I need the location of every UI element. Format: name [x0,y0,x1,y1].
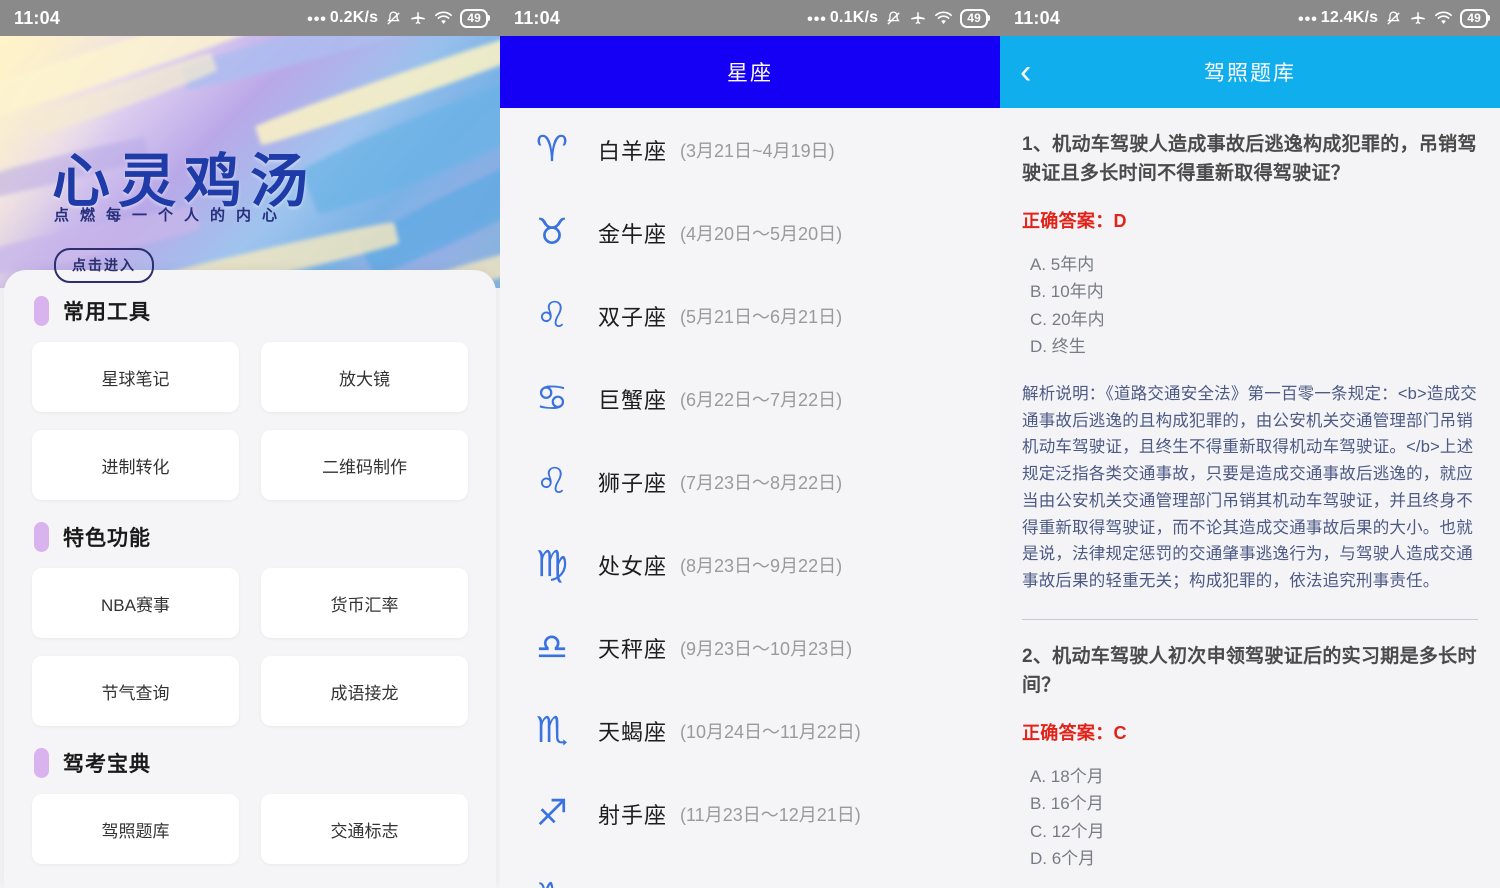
three-panel-screenshot: 11:04 ••• 0.2K/s 49 [0,0,1500,888]
airplane-icon [1409,9,1427,27]
status-bar-2: 11:04 ••• 0.1K/s 49 [500,0,1000,36]
option-item[interactable]: B. 16个月 [1030,790,1478,818]
panel-driving-quiz: 11:04 ••• 12.4K/s 49 ‹ 驾照题库 [1000,0,1500,888]
taurus-icon: ♉ [528,215,576,251]
zodiac-name: 白羊座 [598,134,667,166]
section-header-common-tools: 常用工具 [34,296,468,326]
option-item[interactable]: C. 20年内 [1030,306,1478,334]
zodiac-toolbar: 星座 [500,36,1000,108]
section-bullet-icon [34,296,49,326]
zodiac-date: (7月23日～8月22日) [680,469,842,495]
page-title: 星座 [727,57,773,87]
option-item[interactable]: C. 12个月 [1030,818,1478,846]
option-list: A. 18个月 B. 16个月 C. 12个月 D. 6个月 [1022,763,1478,873]
question-text: 1、机动车驾驶人造成事故后逃逸构成犯罪的，吊销驾驶证且多长时间不得重新取得驾驶证… [1022,130,1478,189]
enter-button[interactable]: 点击进入 [54,248,154,283]
zodiac-name: 射手座 [598,798,667,830]
scorpio-icon: ♏ [528,713,576,749]
banner-subtitle: 点燃每一个人的内心 [54,204,288,225]
correct-answer: 正确答案：C [1022,719,1478,745]
zodiac-name: 处女座 [598,549,667,581]
airplane-icon [909,9,927,27]
tool-card[interactable]: 节气查询 [32,656,239,726]
battery-indicator: 49 [1460,9,1488,28]
virgo-icon: ♍ [528,547,576,583]
zodiac-date: (4月20日～5月20日) [680,220,842,246]
list-item[interactable]: ♐ 射手座 (11月23日～12月21日) [500,772,1000,855]
list-item[interactable]: ♉ 金牛座 (4月20日～5月20日) [500,191,1000,274]
libra-icon: ♎ [528,630,576,666]
tool-card[interactable]: 驾照题库 [32,794,239,864]
airplane-icon [409,9,427,27]
cancer-icon: ♋ [528,381,576,417]
hero-banner[interactable]: 心灵鸡汤 点燃每一个人的内心 点击进入 [0,36,500,288]
panel-home-tools: 11:04 ••• 0.2K/s 49 [0,0,500,888]
zodiac-date: (11月23日～12月21日) [680,801,861,827]
tool-card[interactable]: 货币汇率 [261,568,468,638]
status-time: 11:04 [1014,8,1060,29]
status-bar-1: 11:04 ••• 0.2K/s 49 [0,0,500,36]
list-item[interactable]: ♈ 白羊座 (3月21日~4月19日) [500,108,1000,191]
correct-answer: 正确答案：D [1022,207,1478,233]
zodiac-date: (10月24日～11月22日) [680,718,861,744]
network-speed: 0.2K/s [330,9,378,27]
battery-indicator: 49 [960,9,988,28]
zodiac-name: 狮子座 [598,466,667,498]
sagittarius-icon: ♐ [528,796,576,832]
chevron-left-icon[interactable]: ‹ [1020,55,1056,89]
bell-muted-icon [385,10,402,27]
quiz-toolbar: ‹ 驾照题库 [1000,36,1500,108]
page-title: 驾照题库 [1000,57,1500,87]
zodiac-name: 天蝎座 [598,715,667,747]
tool-card[interactable]: 星球笔记 [32,342,239,412]
question-text: 2、机动车驾驶人初次申领驾驶证后的实习期是多长时间？ [1022,642,1478,701]
status-time: 11:04 [14,8,60,29]
section-header-driving: 驾考宝典 [34,748,468,778]
section-header-features: 特色功能 [34,522,468,552]
option-item[interactable]: D. 6个月 [1030,845,1478,873]
section-title: 常用工具 [63,296,151,326]
aries-icon: ♈ [528,132,576,168]
status-bar-3: 11:04 ••• 12.4K/s 49 [1000,0,1500,36]
option-item[interactable]: A. 5年内 [1030,251,1478,279]
wifi-icon [934,10,953,26]
zodiac-name: 双子座 [598,300,667,332]
network-dots-icon: ••• [807,11,827,29]
network-speed: 0.1K/s [830,9,878,27]
question-list[interactable]: 1、机动车驾驶人造成事故后逃逸构成犯罪的，吊销驾驶证且多长时间不得重新取得驾驶证… [1000,108,1500,888]
panel-zodiac-list: 11:04 ••• 0.1K/s 49 星座 ♈ [500,0,1000,888]
option-list: A. 5年内 B. 10年内 C. 20年内 D. 终生 [1022,251,1478,361]
zodiac-name: 巨蟹座 [598,383,667,415]
tool-grid-common: 星球笔记 放大镜 进制转化 二维码制作 [32,342,468,500]
list-item[interactable]: ♋ 巨蟹座 (6月22日～7月22日) [500,357,1000,440]
wifi-icon [434,10,453,26]
tool-card[interactable]: 进制转化 [32,430,239,500]
leo-icon: ♌ [528,298,576,334]
tool-card[interactable]: 成语接龙 [261,656,468,726]
section-bullet-icon [34,748,49,778]
zodiac-date: (8月23日～9月22日) [680,552,842,578]
question-block: 2、机动车驾驶人初次申领驾驶证后的实习期是多长时间？ 正确答案：C A. 18个… [1022,620,1478,888]
list-item[interactable]: ♎ 天秤座 (9月23日～10月23日) [500,606,1000,689]
list-item[interactable]: ♌ 狮子座 (7月23日～8月22日) [500,440,1000,523]
zodiac-date: (5月21日～6月21日) [680,303,842,329]
bell-muted-icon [885,10,902,27]
bell-muted-icon [1385,10,1402,27]
zodiac-name: 金牛座 [598,217,667,249]
explanation-text: 解析说明：《道路交通安全法》第一百零一条规定：<b>造成交通事故后逃逸的且构成犯… [1022,381,1478,595]
tool-card[interactable]: 二维码制作 [261,430,468,500]
tool-grid-driving: 驾照题库 交通标志 [32,794,468,864]
tool-card[interactable]: 交通标志 [261,794,468,864]
zodiac-list[interactable]: ♈ 白羊座 (3月21日~4月19日) ♉ 金牛座 (4月20日～5月20日) … [500,108,1000,888]
tools-sheet: 常用工具 星球笔记 放大镜 进制转化 二维码制作 特色功能 NBA赛事 货币汇率… [4,270,496,888]
question-block: 1、机动车驾驶人造成事故后逃逸构成犯罪的，吊销驾驶证且多长时间不得重新取得驾驶证… [1022,108,1478,620]
option-item[interactable]: B. 10年内 [1030,278,1478,306]
section-title: 驾考宝典 [63,748,151,778]
list-item[interactable]: ♍ 处女座 (8月23日～9月22日) [500,523,1000,606]
zodiac-date: (6月22日～7月22日) [680,386,842,412]
list-item[interactable]: ♌ 双子座 (5月21日～6月21日) [500,274,1000,357]
section-bullet-icon [34,522,49,552]
battery-indicator: 49 [460,9,488,28]
zodiac-date: (9月23日～10月23日) [680,635,852,661]
network-dots-icon: ••• [1298,11,1318,29]
capricorn-icon: ♑ [528,879,576,888]
list-item[interactable]: ♑ [500,855,1000,888]
leo-icon: ♌ [528,464,576,500]
zodiac-name: 天秤座 [598,632,667,664]
option-item[interactable]: A. 18个月 [1030,763,1478,791]
network-dots-icon: ••• [307,11,327,29]
option-item[interactable]: D. 终生 [1030,333,1478,361]
wifi-icon [1434,10,1453,26]
tool-card[interactable]: 放大镜 [261,342,468,412]
tool-card[interactable]: NBA赛事 [32,568,239,638]
status-time: 11:04 [514,8,560,29]
zodiac-date: (3月21日~4月19日) [680,137,835,163]
tool-grid-features: NBA赛事 货币汇率 节气查询 成语接龙 [32,568,468,726]
section-title: 特色功能 [63,522,151,552]
list-item[interactable]: ♏ 天蝎座 (10月24日～11月22日) [500,689,1000,772]
network-speed: 12.4K/s [1321,9,1378,27]
